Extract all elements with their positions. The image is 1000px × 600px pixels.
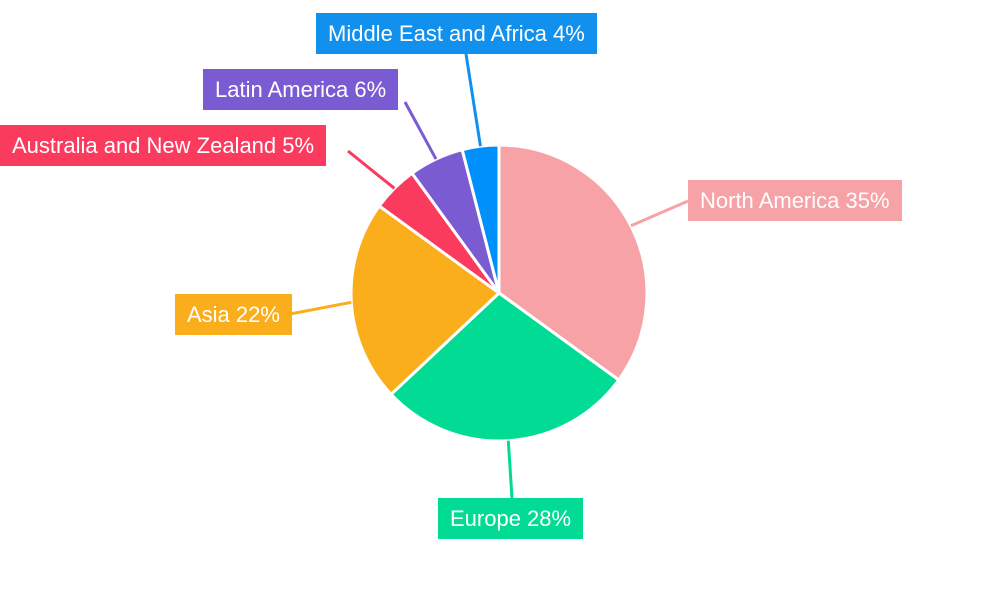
leader-line-middle-east-and-africa	[466, 54, 480, 146]
pie-label-text: Middle East and Africa 4%	[328, 23, 585, 45]
pie-label-text: Europe 28%	[450, 508, 571, 530]
pie-label-text: Australia and New Zealand 5%	[12, 135, 314, 157]
leader-line-europe	[508, 441, 512, 498]
pie-label-text: North America 35%	[700, 190, 890, 212]
pie-label-asia[interactable]: Asia 22%	[175, 294, 292, 335]
pie-chart-figure: Middle East and Africa 4% Latin America …	[0, 0, 1000, 600]
pie-label-middle-east-and-africa[interactable]: Middle East and Africa 4%	[316, 13, 597, 54]
pie-label-latin-america[interactable]: Latin America 6%	[203, 69, 398, 110]
leader-line-latin-america	[405, 102, 436, 159]
leader-line-north-america	[631, 201, 688, 226]
pie-label-australia-and-new-zealand[interactable]: Australia and New Zealand 5%	[0, 125, 326, 166]
pie-label-text: Asia 22%	[187, 304, 280, 326]
leader-line-asia	[290, 302, 351, 314]
pie-slices-group	[351, 145, 647, 441]
leader-line-australia-and-new-zealand	[348, 151, 394, 188]
pie-label-north-america[interactable]: North America 35%	[688, 180, 902, 221]
pie-label-text: Latin America 6%	[215, 79, 386, 101]
pie-label-europe[interactable]: Europe 28%	[438, 498, 583, 539]
